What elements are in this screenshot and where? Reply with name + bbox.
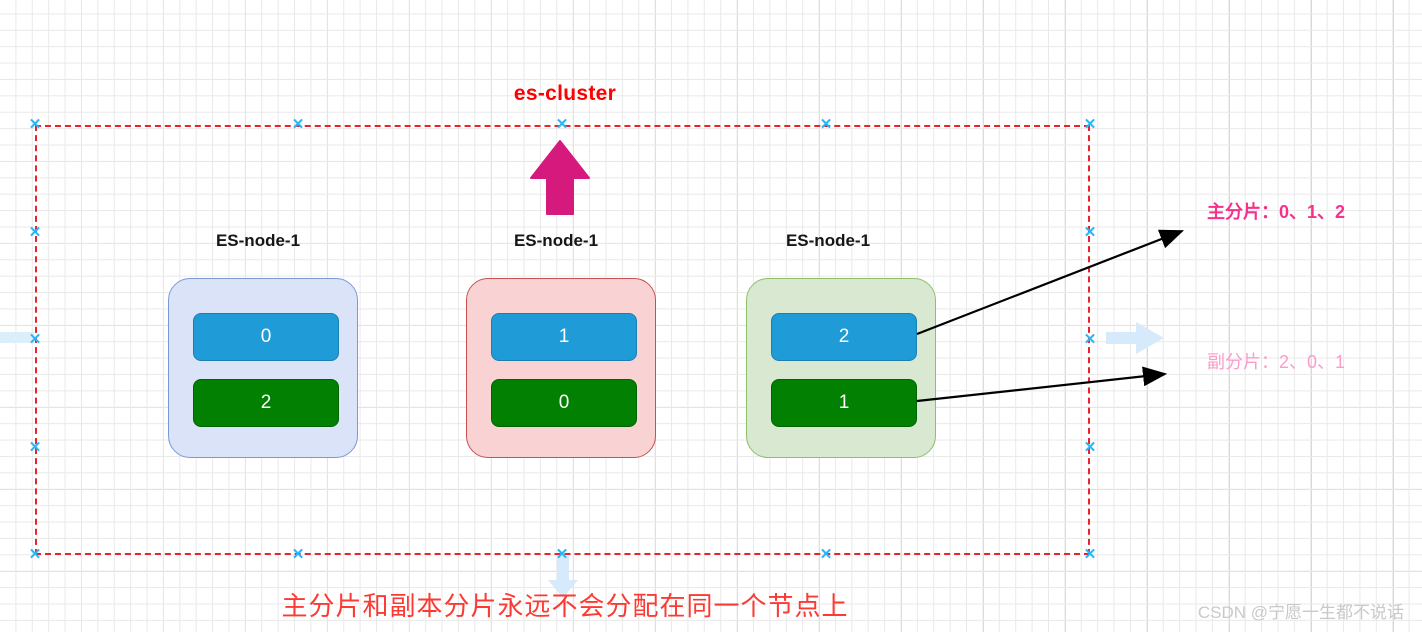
resize-handle-se[interactable]: ✕ [1083, 548, 1097, 562]
shard-replica-2[interactable]: 2 [193, 379, 339, 427]
resize-handle-n2[interactable]: ✕ [819, 118, 833, 132]
up-arrow-icon [528, 138, 592, 218]
shard-primary-0[interactable]: 0 [193, 313, 339, 361]
node-box-1[interactable]: 0 2 [168, 278, 358, 458]
connector-primary [917, 231, 1182, 334]
resize-handle-w2[interactable]: ✕ [28, 441, 42, 455]
resize-handle-s[interactable]: ✕ [555, 548, 569, 562]
resize-handle-w1[interactable]: ✕ [28, 226, 42, 240]
replica-shards-label: 副分片：2、0、1 [1207, 348, 1345, 374]
primary-shards-label: 主分片：0、1、2 [1207, 198, 1345, 224]
resize-handle-n1[interactable]: ✕ [291, 118, 305, 132]
pale-right-arrow-icon [1104, 320, 1168, 356]
node-box-2[interactable]: 1 0 [466, 278, 656, 458]
resize-handle-s2[interactable]: ✕ [819, 548, 833, 562]
shard-replica-1[interactable]: 1 [771, 379, 917, 427]
resize-handle-e2[interactable]: ✕ [1083, 441, 1097, 455]
diagram-canvas: es-cluster ✕ ✕ ✕ ✕ ✕ ✕ ✕ ✕ ✕ ✕ ✕ ✕ ✕ ✕ ✕… [0, 0, 1422, 632]
shard-primary-1[interactable]: 1 [491, 313, 637, 361]
resize-handle-e1[interactable]: ✕ [1083, 226, 1097, 240]
node-label-1: ES-node-1 [158, 231, 358, 251]
resize-handle-sw[interactable]: ✕ [28, 548, 42, 562]
resize-handle-e[interactable]: ✕ [1083, 333, 1097, 347]
node-label-2: ES-node-1 [456, 231, 656, 251]
shard-replica-0[interactable]: 0 [491, 379, 637, 427]
resize-handle-s1[interactable]: ✕ [291, 548, 305, 562]
node-box-3[interactable]: 2 1 [746, 278, 936, 458]
connector-replica [917, 374, 1165, 401]
node-label-3: ES-node-1 [728, 231, 928, 251]
resize-handle-ne[interactable]: ✕ [1083, 118, 1097, 132]
watermark: CSDN @宁愿一生都不说话 [1198, 598, 1404, 623]
resize-handle-nw[interactable]: ✕ [28, 118, 42, 132]
resize-handle-n[interactable]: ✕ [555, 118, 569, 132]
resize-handle-w[interactable]: ✕ [28, 333, 42, 347]
page-title: es-cluster [0, 82, 1130, 106]
diagram-caption: 主分片和副本分片永远不会分配在同一个节点上 [0, 586, 1130, 623]
shard-primary-2[interactable]: 2 [771, 313, 917, 361]
